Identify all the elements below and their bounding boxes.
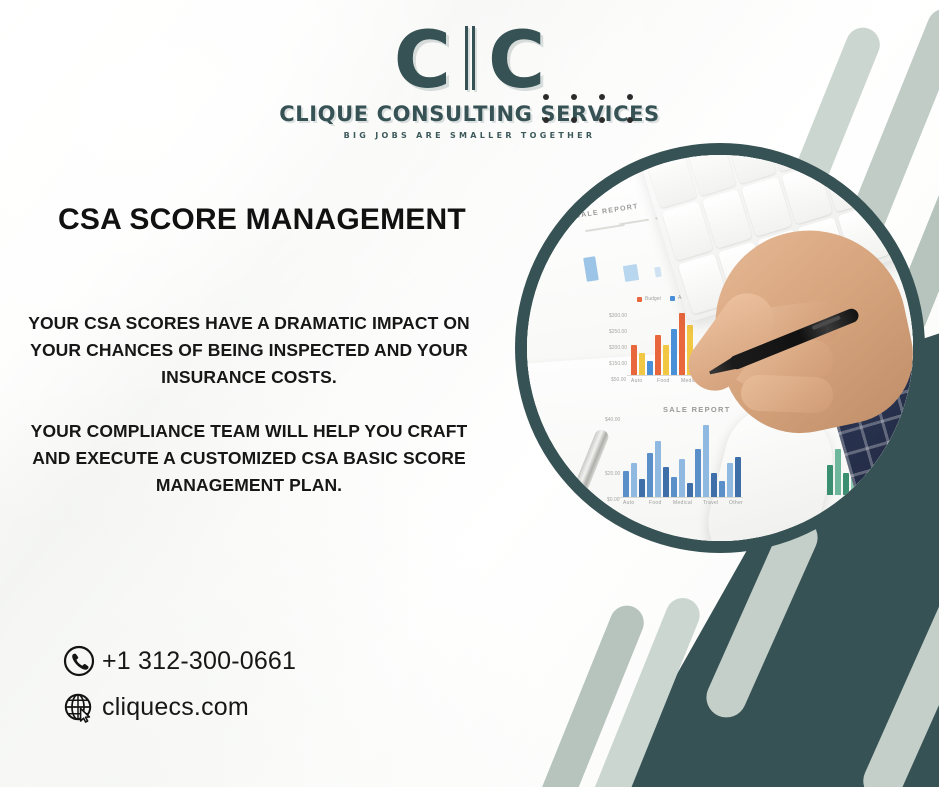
- photo-image: SALE REPORT E REPO Budget Actual $300.00: [527, 155, 913, 541]
- chart-bar: [679, 313, 685, 375]
- chart-x-tick: Food: [657, 378, 670, 384]
- chart-y-tick: $250.00: [609, 329, 627, 335]
- dot: [543, 117, 549, 123]
- chart-bar: [663, 467, 669, 497]
- chart-bar: [639, 479, 645, 497]
- phone-in-circle-icon: [62, 644, 96, 678]
- dot: [627, 94, 633, 100]
- chart-x-tick: Food: [649, 500, 662, 506]
- brand-logo: C C CLIQUE CONSULTING SERVICES BIG JOBS …: [0, 22, 939, 140]
- logo-mark: C C: [394, 22, 545, 94]
- chart-bar: [647, 453, 653, 497]
- company-name: CLIQUE CONSULTING SERVICES: [0, 102, 939, 126]
- body-paragraph-1: YOUR CSA SCORES HAVE A DRAMATIC IMPACT O…: [14, 310, 484, 391]
- company-tagline: BIG JOBS ARE SMALLER TOGETHER: [0, 131, 939, 140]
- report-block: [623, 264, 639, 282]
- chart-bar: [671, 329, 677, 375]
- chart-legend-swatch: [670, 296, 675, 301]
- chart-bar: [655, 441, 661, 497]
- chart-bar: [663, 345, 669, 375]
- chart-y-tick: $200.00: [609, 345, 627, 351]
- contact-phone-row[interactable]: +1 312-300-0661: [62, 638, 296, 684]
- chart-y-tick: $300.00: [609, 313, 627, 319]
- chart-y-tick: $0.00: [607, 497, 620, 503]
- chart-bar: [655, 335, 661, 375]
- chart-y-tick: $50.00: [611, 377, 626, 383]
- logo-letter-right: C: [488, 22, 545, 100]
- poster-canvas: SALE REPORT E REPO Budget Actual $300.00: [0, 0, 939, 787]
- website-url: cliquecs.com: [102, 693, 249, 722]
- chart-legend-swatch: [637, 297, 642, 302]
- dot: [599, 117, 605, 123]
- dot: [571, 94, 577, 100]
- chart-y-tick: $40.00: [605, 417, 620, 423]
- chart-bar: [687, 483, 693, 497]
- chart-x-tick: Medical: [673, 500, 692, 506]
- dot: [543, 94, 549, 100]
- globe-with-cursor-icon: [62, 690, 96, 724]
- vertical-bars-icon: [463, 22, 477, 94]
- hand-holding-pen: [697, 210, 913, 540]
- contact-website-row[interactable]: cliquecs.com: [62, 684, 296, 730]
- contact-block: +1 312-300-0661 cliquecs.com: [62, 638, 296, 730]
- finger: [740, 374, 833, 413]
- keyboard-key: [645, 155, 696, 208]
- dot-grid-decoration: [543, 94, 655, 140]
- chart-y-tick: $150.00: [609, 361, 627, 367]
- dot: [627, 117, 633, 123]
- dot: [599, 94, 605, 100]
- phone-number: +1 312-300-0661: [102, 647, 296, 676]
- chart-x-tick: Auto: [623, 500, 635, 506]
- chart-y-tick: $20.00: [605, 471, 620, 477]
- chart-bar: [671, 477, 677, 497]
- chart-bar: [639, 353, 645, 375]
- chart-bar: [631, 463, 637, 497]
- chart-bar: [631, 345, 637, 375]
- dot: [571, 117, 577, 123]
- photo-circle-frame: SALE REPORT E REPO Budget Actual $300.00: [515, 143, 925, 553]
- chart-bar: [679, 459, 685, 497]
- chart-legend-label: Budget: [645, 296, 661, 302]
- logo-letter-left: C: [394, 22, 451, 100]
- chart-bar: [647, 361, 653, 375]
- page-title: CSA SCORE MANAGEMENT: [58, 203, 478, 237]
- body-paragraph-2: YOUR COMPLIANCE TEAM WILL HELP YOU CRAFT…: [14, 418, 484, 499]
- chart-x-tick: Auto: [631, 378, 643, 384]
- chart-bar: [623, 471, 629, 497]
